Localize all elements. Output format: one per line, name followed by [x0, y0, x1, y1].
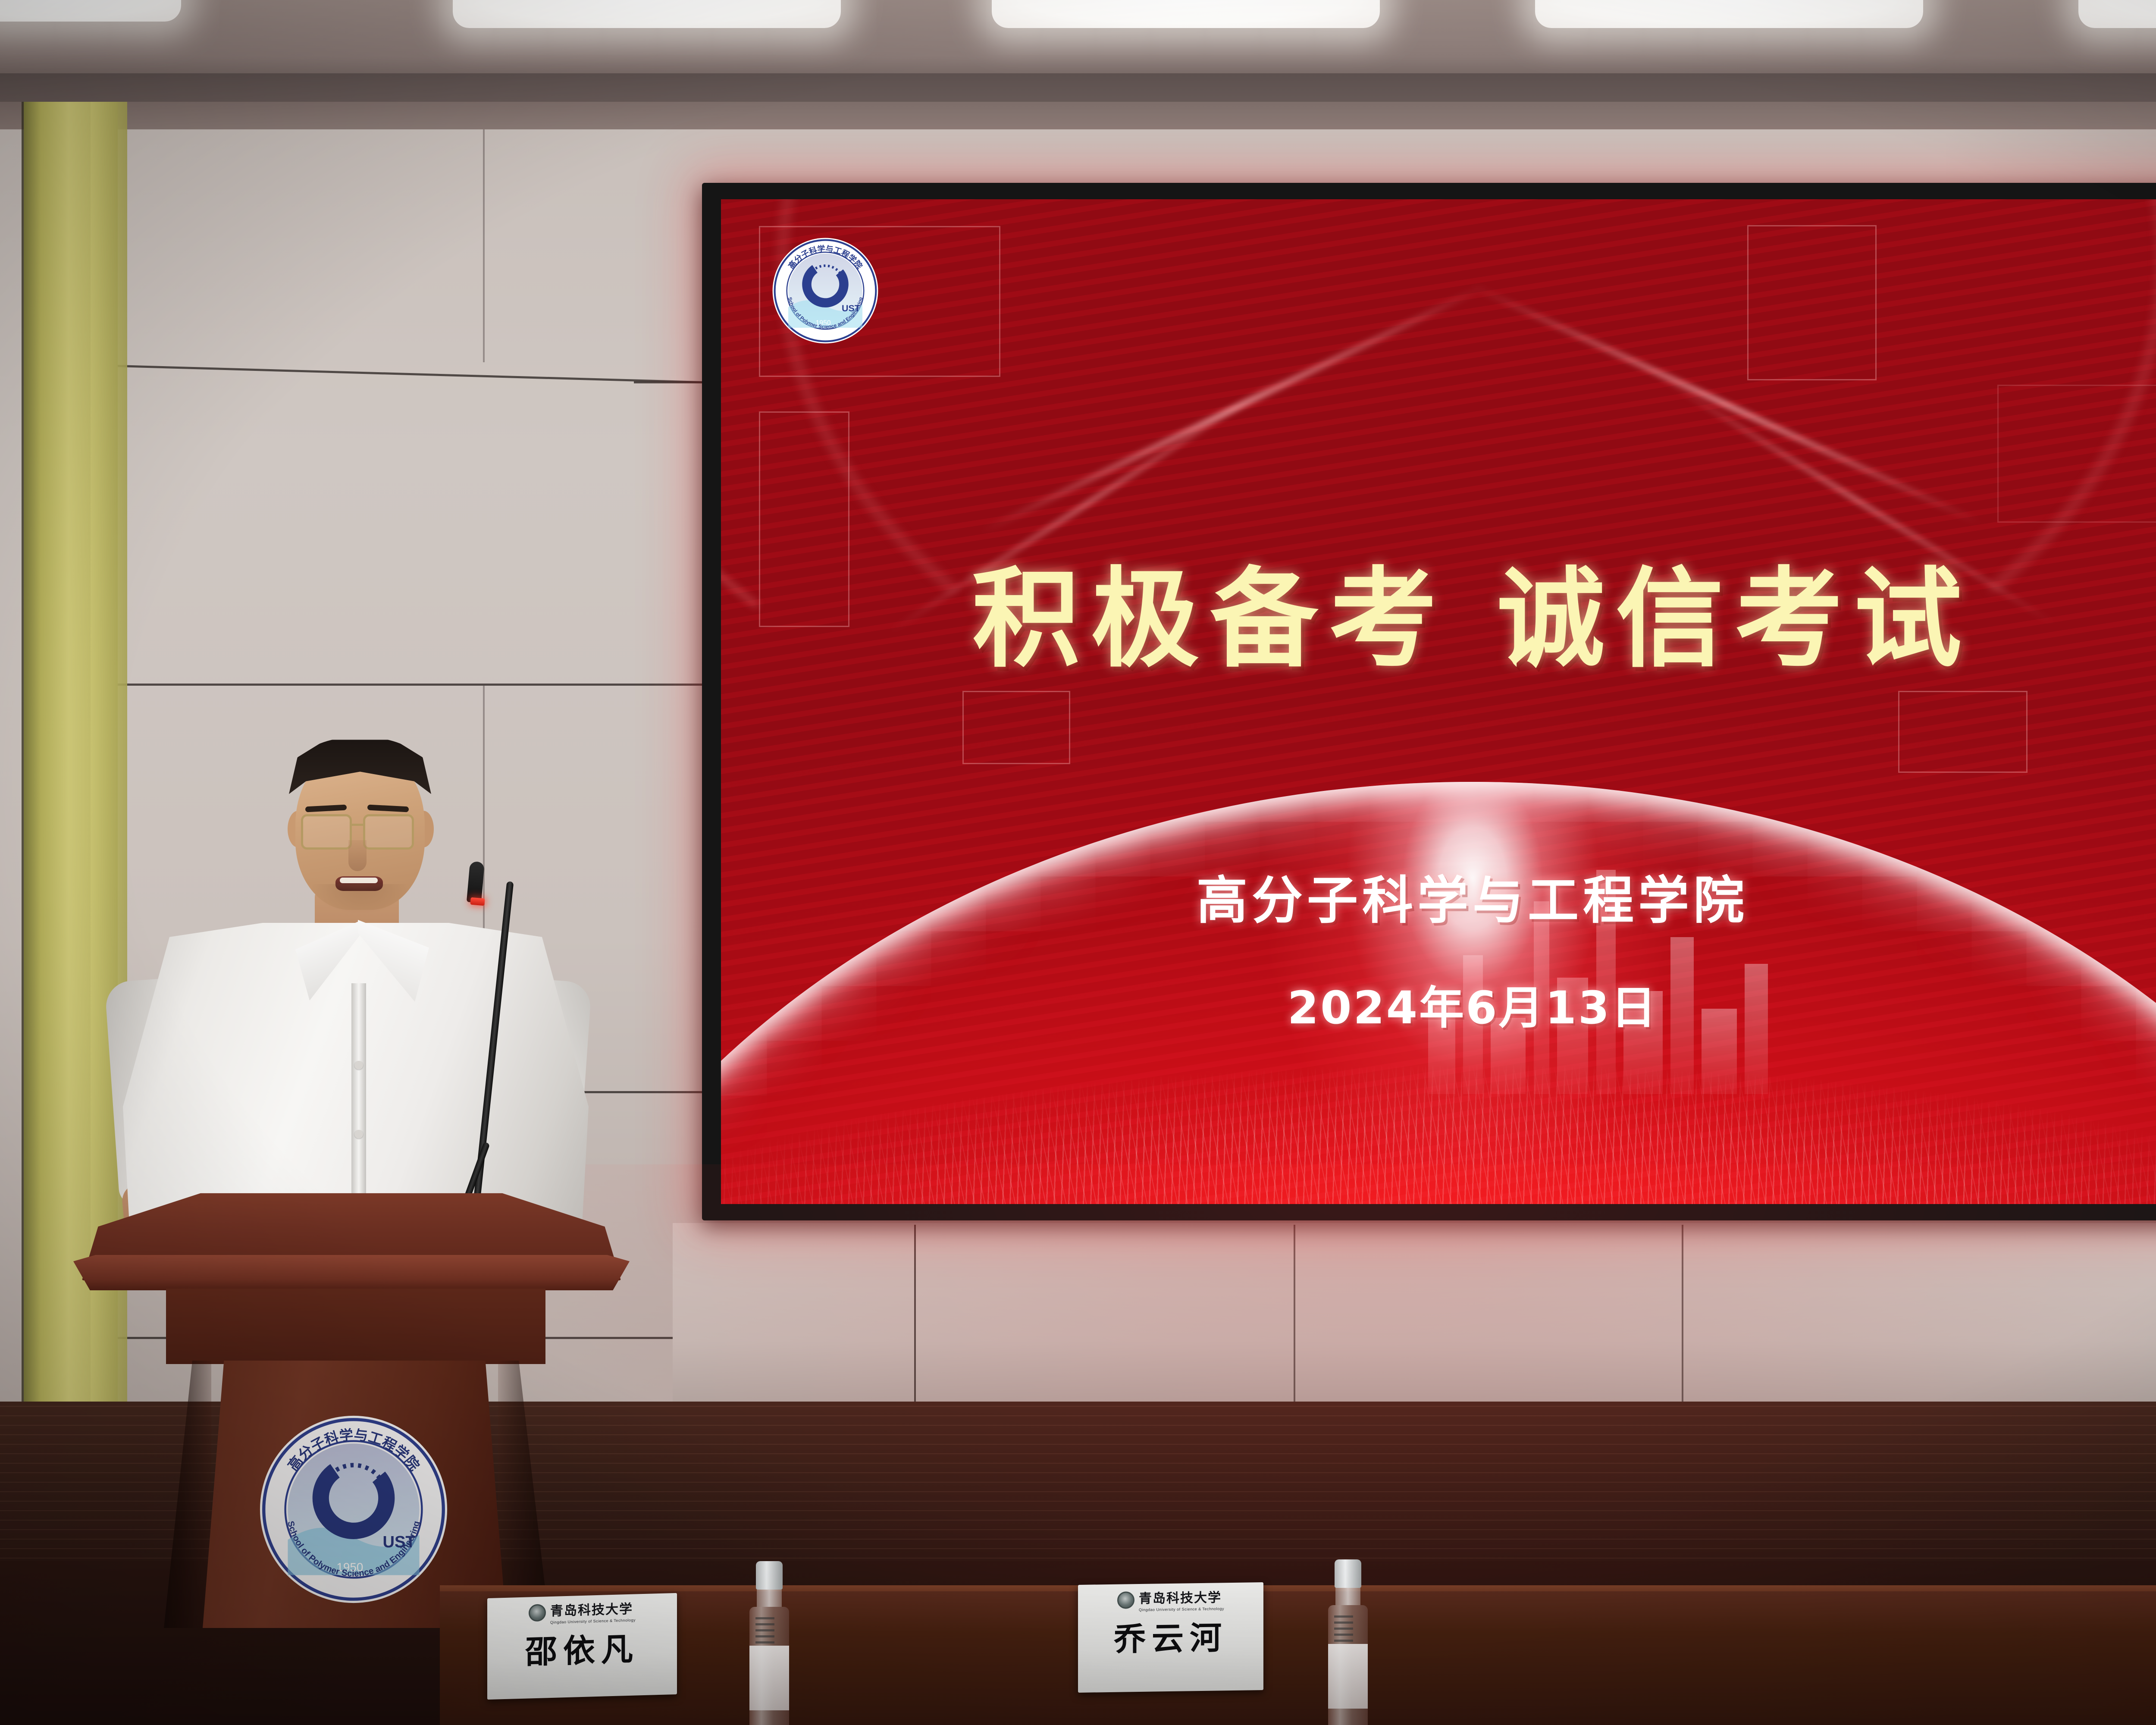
microphone-indicator-light: [470, 897, 485, 906]
bottle-cap: [756, 1561, 783, 1590]
glasses-lens-left: [301, 814, 352, 850]
nameplate-university: 青岛科技大学: [1139, 1587, 1224, 1607]
ceiling-light-panel: [453, 0, 841, 28]
conference-room-scene: UST 1950 高分子科学与工程学院 School of Polymer Sc…: [0, 0, 2156, 1725]
glasses-bridge: [352, 824, 363, 826]
school-emblem-on-screen: UST 1950 高分子科学与工程学院 School of Polymer Sc…: [772, 237, 879, 344]
glasses-lens-right: [363, 814, 414, 850]
ceiling-light-panel: [2078, 0, 2156, 28]
led-screen[interactable]: UST 1950 高分子科学与工程学院 School of Polymer Sc…: [721, 199, 2156, 1204]
bottle-label: [749, 1646, 789, 1710]
nameplate-university-logo-row: 青岛科技大学 Qingdao University of Science & T…: [1117, 1589, 1224, 1610]
wall-panel-band: [673, 1223, 2156, 1404]
bottle-label: [1328, 1644, 1368, 1709]
podium-emblem-svg: UST 1950 高分子科学与工程学院 School of Polymer Sc…: [259, 1414, 448, 1604]
university-seal-icon: [529, 1604, 546, 1621]
bottle-body: [1328, 1605, 1368, 1725]
podium-neck: [166, 1289, 545, 1364]
bottle-body: [749, 1607, 789, 1725]
podium-lip: [73, 1255, 630, 1290]
shirt-button: [354, 1130, 363, 1138]
bottle-cap: [1335, 1559, 1361, 1588]
nameplate-name: 邵依凡: [525, 1623, 639, 1672]
wall-seam: [914, 1225, 916, 1402]
podium-side-shadow: [164, 1361, 211, 1628]
slide-title: 积极备考 诚信考试: [721, 531, 2156, 687]
ceiling-light-panel: [0, 0, 181, 22]
school-emblem-on-podium: UST 1950 高分子科学与工程学院 School of Polymer Sc…: [259, 1414, 448, 1604]
nameplate-university-logo-row: 青岛科技大学 Qingdao University of Science & T…: [529, 1600, 636, 1623]
nose: [348, 840, 367, 871]
conference-table: [440, 1591, 2156, 1725]
bottle-label-text: [755, 1617, 774, 1647]
ceiling-light-panel: [1535, 0, 1923, 28]
wall-seam: [1682, 1225, 1683, 1402]
bottle-neck: [757, 1590, 782, 1607]
wall-seam: [634, 381, 711, 383]
slide-subtitle: 高分子科学与工程学院: [721, 859, 2156, 933]
ceiling-light-panel: [992, 0, 1380, 28]
bottle-label-text: [1334, 1615, 1353, 1646]
wall-seam: [483, 129, 485, 362]
wall-seam: [1294, 1225, 1295, 1402]
teeth: [340, 878, 378, 883]
nameplate-shao-yifan: 青岛科技大学 Qingdao University of Science & T…: [487, 1593, 677, 1700]
speaker-person: [99, 681, 608, 1268]
university-seal-icon: [1117, 1591, 1134, 1609]
nameplate-qiao-yunhe: 青岛科技大学 Qingdao University of Science & T…: [1078, 1582, 1263, 1693]
screen-content: UST 1950 高分子科学与工程学院 School of Polymer Sc…: [721, 199, 2156, 1204]
shirt-button: [354, 1061, 363, 1069]
bottle-neck: [1335, 1588, 1360, 1605]
chin-shadow: [310, 884, 410, 914]
nameplate-name: 乔云河: [1114, 1612, 1228, 1660]
school-emblem-svg: UST 1950 高分子科学与工程学院 School of Polymer Sc…: [772, 237, 879, 344]
nameplate-university-en: Qingdao University of Science & Technolo…: [1139, 1606, 1224, 1612]
water-bottle: [1328, 1559, 1368, 1725]
nameplate-university: 青岛科技大学: [550, 1598, 636, 1620]
slide-date: 2024年6月13日: [721, 971, 2156, 1036]
water-bottle: [749, 1561, 789, 1725]
